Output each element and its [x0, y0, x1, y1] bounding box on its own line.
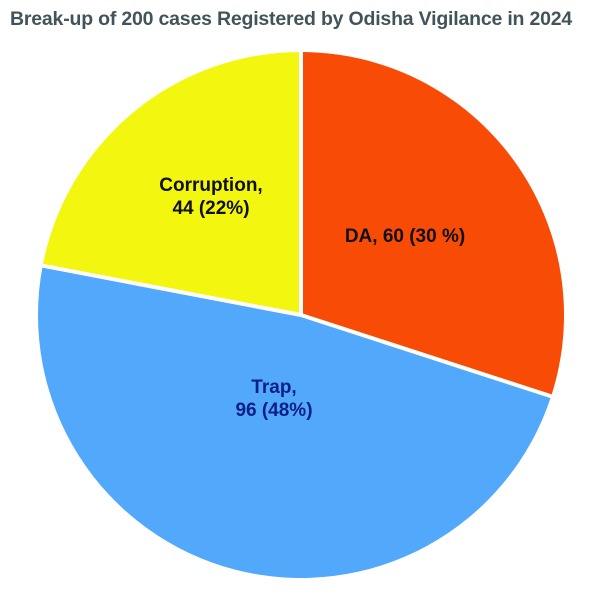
pie-chart-figure: Break-up of 200 cases Registered by Odis…	[0, 0, 615, 600]
pie-chart-canvas	[0, 0, 615, 600]
pie-svg	[0, 0, 615, 600]
